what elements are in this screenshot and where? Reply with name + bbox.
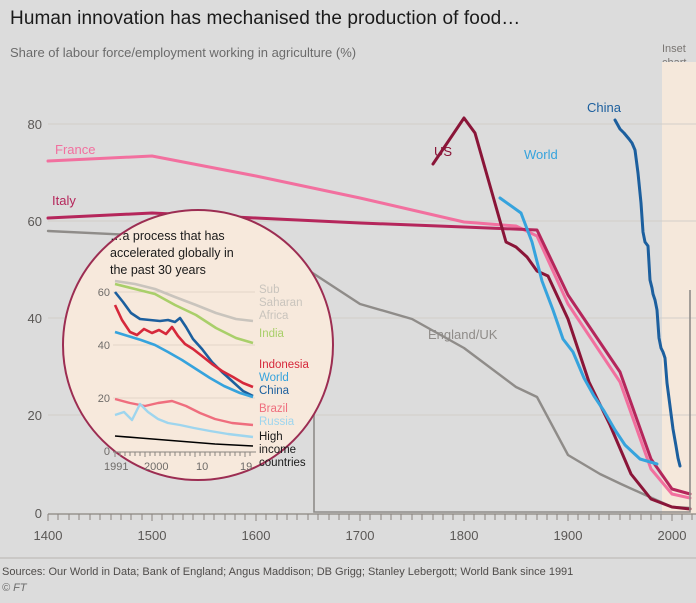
inset-y-20: 20 (98, 393, 110, 405)
inset-legend-china: China (259, 385, 290, 397)
y-tick-80: 80 (28, 117, 42, 132)
x-axis-ticks (48, 514, 692, 521)
inset-anno-line3: the past 30 years (110, 263, 206, 277)
inset-legend-world: World (259, 372, 289, 384)
inset-y-40: 40 (98, 340, 110, 352)
inset-x-10: 10 (196, 461, 208, 473)
x-tick-1500: 1500 (138, 528, 167, 543)
x-tick-1600: 1600 (242, 528, 271, 543)
line-label-england-uk: England/UK (428, 327, 498, 342)
inset-legend-indonesia: Indonesia (259, 359, 309, 371)
inset-x-2000: 2000 (144, 461, 168, 473)
x-tick-1400: 1400 (34, 528, 63, 543)
inset-x-1991: 1991 (104, 461, 128, 473)
inset-y-0: 0 (104, 446, 110, 458)
inset-band (662, 62, 696, 514)
inset-legend-high-income-3: countries (259, 457, 306, 469)
x-tick-1800: 1800 (450, 528, 479, 543)
inset-legend-sub-saharan-1: Sub (259, 284, 279, 296)
y-axis-labels: 80 60 40 20 0 (28, 117, 42, 521)
inset-legend-high-income-1: High (259, 431, 283, 443)
x-tick-1900: 1900 (554, 528, 583, 543)
inset-legend-sub-saharan-3: Africa (259, 310, 289, 322)
line-label-world: World (524, 147, 558, 162)
inset-legend-sub-saharan-2: Saharan (259, 297, 302, 309)
x-tick-1700: 1700 (346, 528, 375, 543)
chart-page: Human innovation has mechanised the prod… (0, 0, 696, 603)
y-tick-40: 40 (28, 311, 42, 326)
y-tick-0: 0 (35, 506, 42, 521)
inset-legend-russia: Russia (259, 416, 295, 428)
inset-legend-high-income-2: income (259, 444, 296, 456)
series-line-us (433, 118, 690, 509)
y-tick-60: 60 (28, 214, 42, 229)
copyright-text: © FT (2, 582, 27, 594)
sources-text: Sources: Our World in Data; Bank of Engl… (2, 566, 573, 578)
x-tick-2000: 2000 (658, 528, 687, 543)
inset-anno-line1: …a process that has (110, 229, 225, 243)
inset-legend-india: India (259, 328, 285, 340)
inset-y-60: 60 (98, 287, 110, 299)
x-axis: 1400 1500 1600 1700 1800 1900 2000 (34, 514, 696, 543)
inset-x-19: 19 (240, 461, 252, 473)
y-tick-20: 20 (28, 408, 42, 423)
line-label-us: US (434, 144, 452, 159)
line-label-france: France (55, 142, 95, 157)
line-label-italy: Italy (52, 193, 76, 208)
inset-anno-line2: accelerated globally in (110, 246, 234, 260)
main-chart: 80 60 40 20 0 France Italy US World Chin… (0, 0, 696, 603)
line-label-china: China (587, 100, 622, 115)
inset-legend-brazil: Brazil (259, 403, 288, 415)
